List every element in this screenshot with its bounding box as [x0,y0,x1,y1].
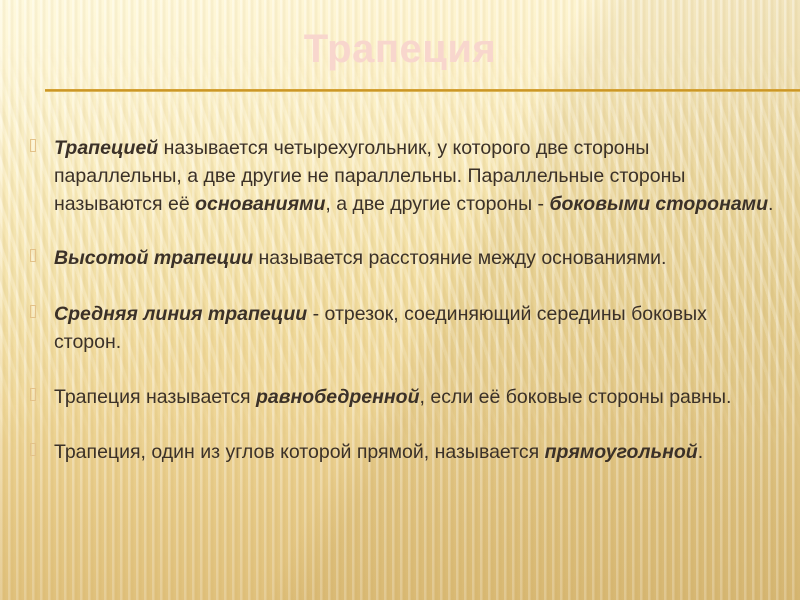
bullet-item-text: Средняя линия трапеции - отрезок, соедин… [54,300,778,356]
bullet-plain-text: называется расстояние между основаниями. [253,247,666,269]
box-bullet-icon [30,134,54,154]
bullet-item: Трапецией называется четырехугольник, у … [30,134,778,218]
bullet-list: Трапецией называется четырехугольник, у … [30,134,778,466]
presentation-slide: Трапеция Трапецией называется четырехуго… [0,0,800,600]
slide-content: Трапеция Трапецией называется четырехуго… [0,0,800,600]
slide-title: Трапеция [0,28,800,70]
bullet-emphasis-text: Трапецией [54,137,158,159]
bullet-plain-text: , если её боковые стороны равны. [420,386,732,408]
bullet-plain-text: . [768,193,773,215]
bullet-item-text: Высотой трапеции называется расстояние м… [54,244,778,272]
box-bullet-icon [30,438,54,458]
bullet-emphasis-text: равнобедренной [256,386,420,408]
bullet-plain-text: . [698,441,703,463]
bullet-emphasis-text: боковыми сторонами [549,193,768,215]
bullet-emphasis-text: Высотой трапеции [54,247,253,269]
bullet-emphasis-text: прямоугольной [545,441,698,463]
bullet-item: Средняя линия трапеции - отрезок, соедин… [30,300,778,356]
title-underline-rule [45,89,800,92]
bullet-item: Высотой трапеции называется расстояние м… [30,244,778,272]
bullet-item-text: Трапецией называется четырехугольник, у … [54,134,778,218]
bullet-plain-text: , а две другие стороны - [325,193,549,215]
bullet-plain-text: Трапеция называется [54,386,256,408]
box-bullet-icon [30,244,54,264]
bullet-plain-text: Трапеция, один из углов которой прямой, … [54,441,545,463]
bullet-item-text: Трапеция, один из углов которой прямой, … [54,438,778,466]
bullet-item: Трапеция, один из углов которой прямой, … [30,438,778,466]
box-bullet-icon [30,383,54,403]
bullet-item: Трапеция называется равнобедренной, если… [30,383,778,411]
bullet-item-text: Трапеция называется равнобедренной, если… [54,383,778,411]
bullet-emphasis-text: основаниями [195,193,325,215]
box-bullet-icon [30,300,54,320]
bullet-emphasis-text: Средняя линия трапеции [54,303,307,325]
